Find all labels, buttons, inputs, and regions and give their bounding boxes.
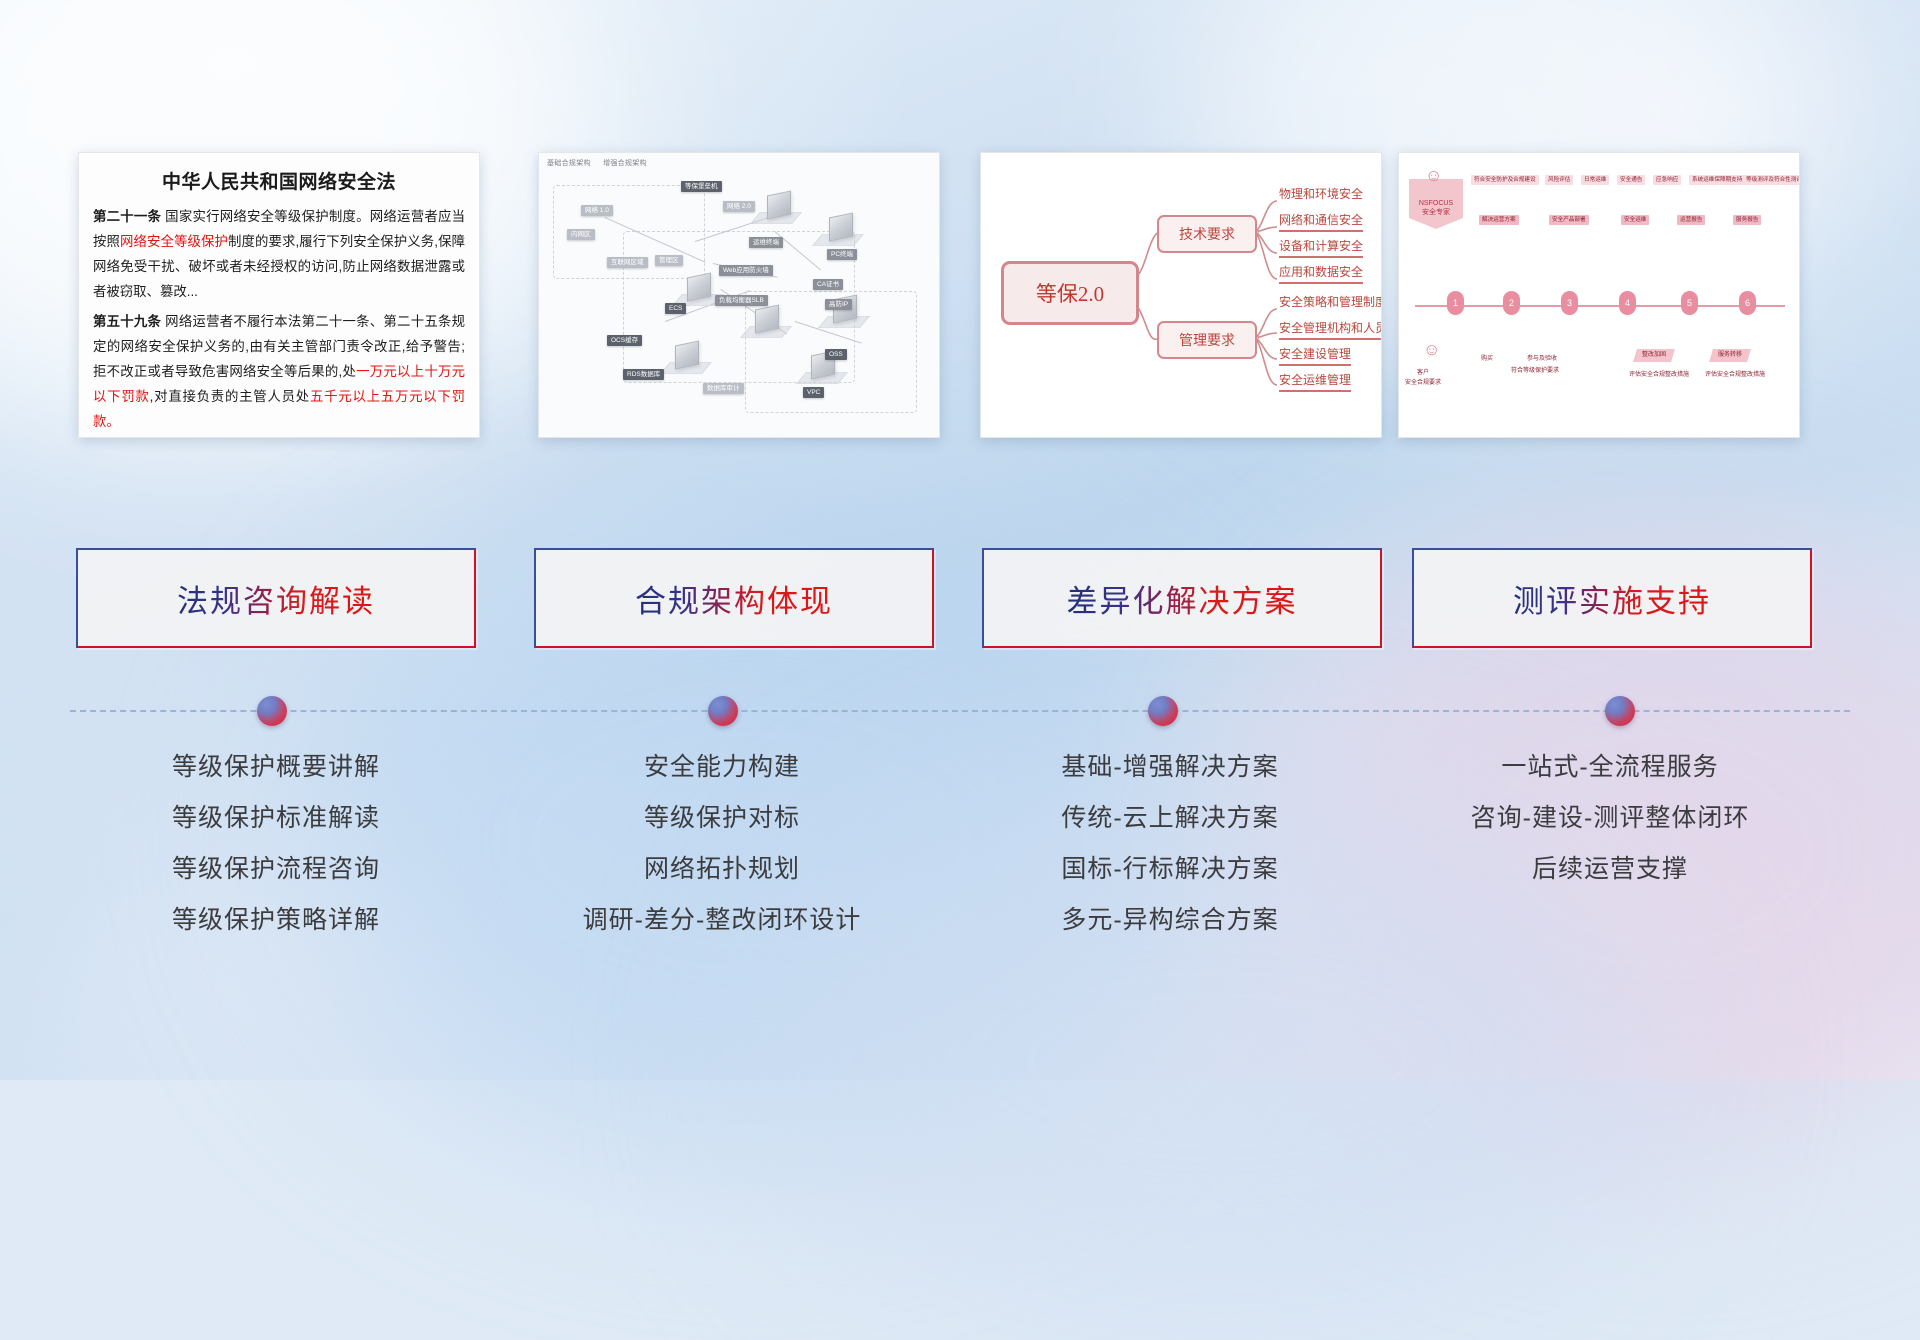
mindmap-branch-management[interactable]: 管理要求 <box>1157 321 1257 359</box>
nsfocus-mid-chip: 安全运维 <box>1621 215 1649 225</box>
nsfocus-step-marker[interactable]: 6 <box>1739 291 1756 315</box>
nsfocus-canvas: NSFOCUS 安全专家 ☺ 符合安全防护及合规建设 风险评估 日常运维 安全通… <box>1399 153 1799 437</box>
node-ca-certificate: CA证书 <box>813 279 843 290</box>
list-item: 网络拓扑规划 <box>512 844 932 895</box>
section-header-label: 合规架构体现 <box>635 576 833 621</box>
nsfocus-timeline-axis <box>1415 305 1785 307</box>
nsfocus-top-chip: 风险评估 <box>1545 175 1573 185</box>
law-paragraph-21: 第二十一条 国家实行网络安全等级保护制度。网络运营者应当按照网络安全等级保护制度… <box>93 204 465 304</box>
nsfocus-mid-chip: 解决运营方案 <box>1479 215 1519 225</box>
mindmap-leaf[interactable]: 设备和计算安全 <box>1279 237 1363 258</box>
law-text: ,对直接负责的主管人员处 <box>150 389 310 404</box>
law-article-label: 第五十九条 <box>93 314 161 329</box>
detail-columns: 等级保护概要讲解 等级保护标准解读 等级保护流程咨询 等级保护策略详解 安全能力… <box>0 742 1920 972</box>
nsfocus-brand-badge: NSFOCUS 安全专家 <box>1409 179 1463 229</box>
list-item: 传统-云上解决方案 <box>960 793 1380 844</box>
node-slb: 负载均衡器SLB <box>715 295 768 306</box>
law-article-label: 第二十一条 <box>93 209 161 224</box>
nsfocus-step-marker[interactable]: 2 <box>1503 291 1520 315</box>
node-database-audit: 数据库审计 <box>703 383 744 394</box>
list-item: 咨询-建设-测评整体闭环 <box>1400 793 1820 844</box>
mindmap-leaf[interactable]: 应用和数据安全 <box>1279 263 1363 284</box>
nsfocus-top-chip: 安全通告 <box>1617 175 1645 185</box>
node-network-1: 网络 1.0 <box>581 205 613 216</box>
timeline-node-4[interactable] <box>1605 696 1635 726</box>
nsfocus-bottom-item-title: 购买 <box>1481 353 1493 362</box>
mindmap-branch-technical[interactable]: 技术要求 <box>1157 215 1257 253</box>
mindmap-leaf[interactable]: 安全建设管理 <box>1279 345 1351 366</box>
nsfocus-top-chip: 日常运维 <box>1581 175 1609 185</box>
architecture-diagram-body: 等保堡垒机 网络 1.0 网络 2.0 PC终端 运维终端 内网区 互联网区域 … <box>545 171 933 431</box>
node-pc-terminal: PC终端 <box>827 249 857 260</box>
nsfocus-brand-subtitle: 安全专家 <box>1409 208 1463 217</box>
node-ops-terminal: 运维终端 <box>749 237 783 248</box>
server-icon <box>829 212 853 241</box>
nsfocus-brand-name: NSFOCUS <box>1409 199 1463 208</box>
architecture-canvas: 基础合规架构 增强合规架构 <box>539 153 939 437</box>
nsfocus-step-marker[interactable]: 3 <box>1561 291 1578 315</box>
section-headers: 法规咨询解读 合规架构体现 差异化解决方案 测评实施支持 <box>0 548 1920 648</box>
nsfocus-bottom-item-sub: 符合等级保护要求 <box>1511 365 1559 374</box>
law-card-title: 中华人民共和国网络安全法 <box>79 167 479 194</box>
nsfocus-mid-chip: 服务报告 <box>1733 215 1761 225</box>
list-item: 等级保护流程咨询 <box>66 844 486 895</box>
card-nsfocus-timeline[interactable]: NSFOCUS 安全专家 ☺ 符合安全防护及合规建设 风险评估 日常运维 安全通… <box>1398 152 1800 438</box>
section-header-box-2[interactable]: 合规架构体现 <box>534 548 934 648</box>
law-paragraph-59: 第五十九条 网络运营者不履行本法第二十一条、第二十五条规定的网络安全保护义务的,… <box>93 309 465 434</box>
customer-avatar-icon: ☺ <box>1423 341 1440 358</box>
detail-column-2: 安全能力构建 等级保护对标 网络拓扑规划 调研-差分-整改闭环设计 <box>512 742 932 946</box>
server-icon <box>755 304 779 333</box>
card-law-text[interactable]: 中华人民共和国网络安全法 第二十一条 国家实行网络安全等级保护制度。网络运营者应… <box>78 152 480 438</box>
list-item: 等级保护对标 <box>512 793 932 844</box>
list-item: 后续运营支撑 <box>1400 844 1820 895</box>
node-vpc: VPC <box>803 387 824 398</box>
node-network-2: 网络 2.0 <box>723 201 755 212</box>
nsfocus-customer-label: 客户 <box>1417 367 1429 376</box>
section-header-label: 差异化解决方案 <box>1067 576 1298 621</box>
server-icon <box>767 190 791 219</box>
nsfocus-parallelogram-title: 服务转移 <box>1718 349 1742 362</box>
list-item: 一站式-全流程服务 <box>1400 742 1820 793</box>
nsfocus-top-chip: 符合安全防护及合规建设 <box>1471 175 1539 185</box>
card-strip: 中华人民共和国网络安全法 第二十一条 国家实行网络安全等级保护制度。网络运营者应… <box>0 152 1920 442</box>
detail-column-4: 一站式-全流程服务 咨询-建设-测评整体闭环 后续运营支撑 <box>1400 742 1820 895</box>
tab-basic-architecture[interactable]: 基础合规架构 <box>547 160 591 167</box>
server-icon <box>687 272 711 301</box>
mindmap-leaf[interactable]: 安全策略和管理制度 <box>1279 293 1382 312</box>
timeline-dashed-rule <box>70 710 1850 712</box>
timeline <box>0 692 1920 732</box>
timeline-node-3[interactable] <box>1148 696 1178 726</box>
detail-column-1: 等级保护概要讲解 等级保护标准解读 等级保护流程咨询 等级保护策略详解 <box>66 742 486 946</box>
law-card-body: 第二十一条 国家实行网络安全等级保护制度。网络运营者应当按照网络安全等级保护制度… <box>79 204 479 434</box>
node-waf: Web应用防火墙 <box>719 265 773 276</box>
mindmap-root-node[interactable]: 等保2.0 <box>1001 261 1139 325</box>
detail-column-3: 基础-增强解决方案 传统-云上解决方案 国标-行标解决方案 多元-异构综合方案 <box>960 742 1380 946</box>
nsfocus-top-chip: 等级测评及符合性测评整改技术支持 <box>1743 175 1800 185</box>
node-ecs: ECS <box>665 303 686 314</box>
mindmap-canvas: 等保2.0 技术要求 管理要求 物理和环境安全 网络和通信安全 设备和计算安全 … <box>981 153 1381 437</box>
list-item: 等级保护概要讲解 <box>66 742 486 793</box>
law-text-highlight: 网络安全等级保护 <box>120 234 228 249</box>
nsfocus-parallelogram: 服务转移 <box>1709 349 1751 362</box>
database-icon <box>675 340 699 369</box>
node-internet-zone: 互联网区域 <box>607 257 648 268</box>
nsfocus-parallelogram-sub: 评估安全合规整改措施 <box>1705 369 1765 378</box>
section-header-box-1[interactable]: 法规咨询解读 <box>76 548 476 648</box>
mindmap-leaf[interactable]: 安全管理机构和人员 <box>1279 319 1382 340</box>
node-anti-ddos-ip: 高防IP <box>825 299 852 310</box>
nsfocus-customer-sub: 安全合规要求 <box>1405 377 1441 386</box>
section-header-label: 法规咨询解读 <box>177 576 375 621</box>
node-ocs-cache: OCS缓存 <box>607 335 642 346</box>
nsfocus-step-marker[interactable]: 5 <box>1681 291 1698 315</box>
nsfocus-top-chip: 应急响应 <box>1653 175 1681 185</box>
list-item: 基础-增强解决方案 <box>960 742 1380 793</box>
mindmap-leaf[interactable]: 物理和环境安全 <box>1279 185 1363 204</box>
nsfocus-step-marker[interactable]: 4 <box>1619 291 1636 315</box>
list-item: 安全能力构建 <box>512 742 932 793</box>
nsfocus-parallelogram-title: 整改加固 <box>1642 349 1666 362</box>
nsfocus-bottom-item-title: 参与及验收 <box>1527 353 1557 362</box>
section-header-box-4[interactable]: 测评实施支持 <box>1412 548 1812 648</box>
section-header-label: 测评实施支持 <box>1513 576 1711 621</box>
nsfocus-mid-chip: 安全产品部署 <box>1549 215 1589 225</box>
section-header-box-3[interactable]: 差异化解决方案 <box>982 548 1382 648</box>
list-item: 调研-差分-整改闭环设计 <box>512 895 932 946</box>
nsfocus-step-marker[interactable]: 1 <box>1447 291 1464 315</box>
node-oss: OSS <box>825 349 847 360</box>
list-item: 多元-异构综合方案 <box>960 895 1380 946</box>
architecture-tabs[interactable]: 基础合规架构 增强合规架构 <box>547 158 657 168</box>
list-item: 等级保护策略详解 <box>66 895 486 946</box>
tab-enhanced-architecture[interactable]: 增强合规架构 <box>603 160 647 167</box>
timeline-node-1[interactable] <box>257 696 287 726</box>
mindmap-leaf[interactable]: 网络和通信安全 <box>1279 211 1363 232</box>
timeline-node-2[interactable] <box>708 696 738 726</box>
list-item: 等级保护标准解读 <box>66 793 486 844</box>
card-mind-map[interactable]: 等保2.0 技术要求 管理要求 物理和环境安全 网络和通信安全 设备和计算安全 … <box>980 152 1382 438</box>
node-management-zone: 管理区 <box>655 255 683 266</box>
card-architecture-diagram[interactable]: 基础合规架构 增强合规架构 <box>538 152 940 438</box>
list-item: 国标-行标解决方案 <box>960 844 1380 895</box>
node-intranet-zone: 内网区 <box>567 229 595 240</box>
expert-avatar-icon: ☺ <box>1425 167 1442 184</box>
nsfocus-parallelogram: 整改加固 <box>1633 349 1675 362</box>
nsfocus-mid-chip: 运营报告 <box>1677 215 1705 225</box>
node-rds-database: RDS数据库 <box>623 369 664 380</box>
mindmap-leaf[interactable]: 安全运维管理 <box>1279 371 1351 392</box>
node-bastion-host: 等保堡垒机 <box>681 181 722 192</box>
nsfocus-top-chip: 系统运维保障期支持 <box>1689 175 1745 185</box>
nsfocus-parallelogram-sub: 评估安全合规整改措施 <box>1629 369 1689 378</box>
